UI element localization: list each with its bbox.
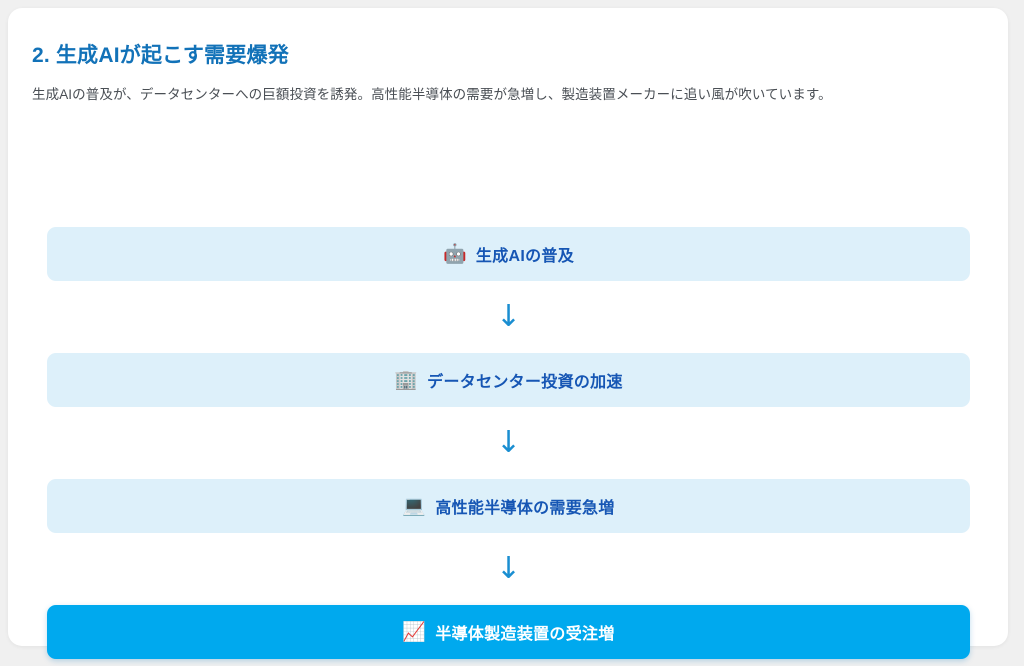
flow-step-3-label: 高性能半導体の需要急増 <box>435 494 614 518</box>
flow-step-1[interactable]: 🤖 生成AIの普及 <box>47 227 970 281</box>
flow-step-2[interactable]: 🏢 データセンター投資の加速 <box>47 353 970 407</box>
flow-step-4-highlighted[interactable]: 📈 半導体製造装置の受注増 <box>47 605 970 659</box>
flow-arrow-3: ↓ <box>47 533 970 605</box>
flow-diagram: 🤖 生成AIの普及 ↓ 🏢 データセンター投資の加速 ↓ 💻 高性能半導体の需要… <box>47 227 970 659</box>
flow-step-2-label: データセンター投資の加速 <box>427 368 623 392</box>
page-title: 2. 生成AIが起こす需要爆発 <box>32 28 984 69</box>
office-building-icon: 🏢 <box>394 371 418 390</box>
flow-step-1-label: 生成AIの普及 <box>476 242 574 266</box>
page-background: 2. 生成AIが起こす需要爆発 生成AIの普及が、データセンターへの巨額投資を誘… <box>0 0 1024 666</box>
section-description: 生成AIの普及が、データセンターへの巨額投資を誘発。高性能半導体の需要が急増し、… <box>32 83 984 108</box>
flow-step-3[interactable]: 💻 高性能半導体の需要急増 <box>47 479 970 533</box>
robot-icon: 🤖 <box>443 245 467 264</box>
laptop-icon: 💻 <box>402 497 426 516</box>
flow-arrow-1: ↓ <box>47 281 970 353</box>
flow-arrow-2: ↓ <box>47 407 970 479</box>
flow-step-4-label: 半導体製造装置の受注増 <box>435 620 614 644</box>
chart-increasing-icon: 📈 <box>402 623 426 642</box>
